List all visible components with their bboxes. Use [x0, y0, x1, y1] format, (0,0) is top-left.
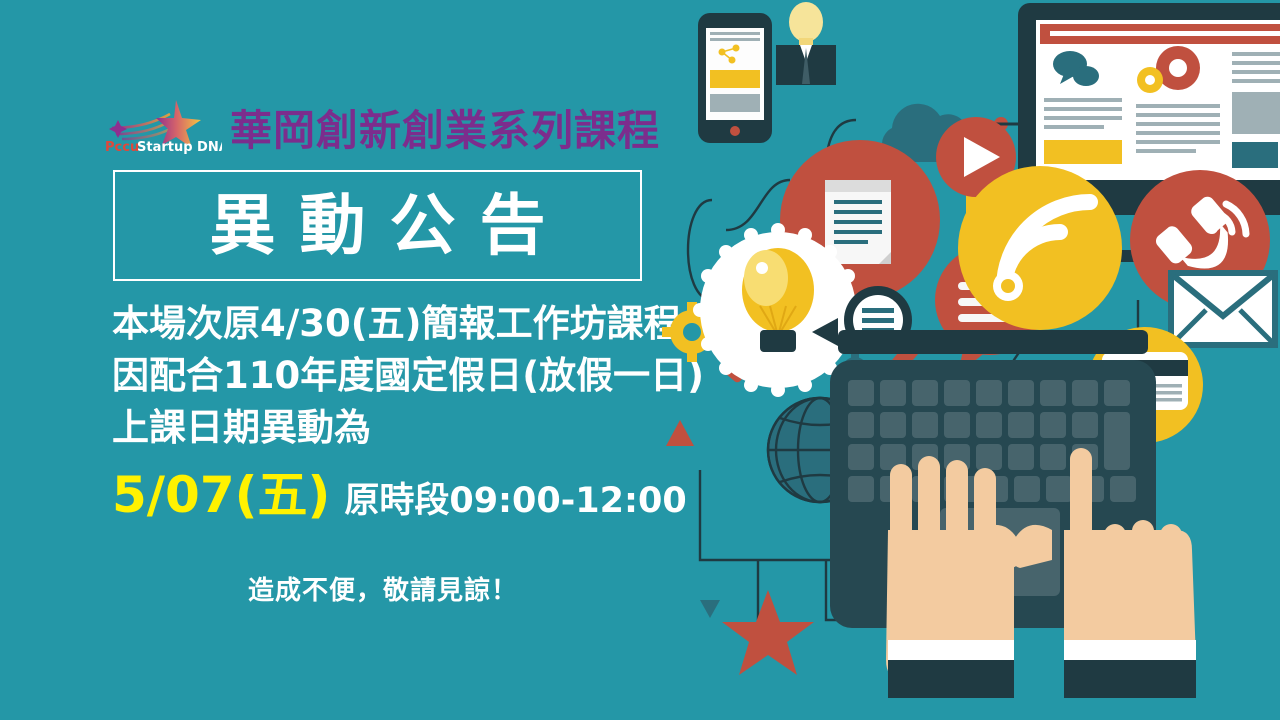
body-text: 本場次原4/30(五)簡報工作坊課程 因配合110年度國定假日(放假一日) 上課… — [112, 298, 704, 454]
organization-title: 華岡創新創業系列課程 — [230, 110, 660, 152]
headline-text: 異動公告 — [115, 193, 640, 259]
brand-row: Pccu Startup DNA 華岡創新創業系列課程 — [104, 98, 660, 154]
smartphone-icon — [698, 13, 772, 143]
arrow-marker-icon — [666, 420, 694, 446]
arrow-marker-icon — [700, 600, 720, 618]
body-line: 上課日期異動為 — [112, 402, 704, 454]
businessman-lightbulb-icon — [776, 2, 836, 85]
star-icon — [722, 590, 814, 675]
text-column: Pccu Startup DNA 華岡創新創業系列課程 異動公告 本場次原4/3… — [0, 0, 700, 720]
svg-text:Startup DNA: Startup DNA — [137, 140, 222, 154]
new-date-value: 5/07(五) — [112, 470, 330, 520]
shooting-star-icon: Pccu Startup DNA — [104, 98, 222, 154]
body-line: 本場次原4/30(五)簡報工作坊課程 — [112, 298, 704, 350]
flat-technology-collage — [640, 0, 1280, 720]
svg-text:Pccu: Pccu — [105, 140, 139, 154]
body-line: 因配合110年度國定假日(放假一日) — [112, 350, 704, 402]
announcement-poster: Pccu Startup DNA 華岡創新創業系列課程 異動公告 本場次原4/3… — [0, 0, 1280, 720]
new-date-row: 5/07(五) 原時段09:00-12:00 — [112, 470, 687, 520]
wifi-circle-icon — [958, 166, 1122, 330]
headline-box: 異動公告 — [113, 170, 642, 281]
apology-note: 造成不便，敬請見諒！ — [248, 570, 518, 607]
envelope-icon — [1168, 270, 1278, 348]
session-time-label: 原時段09:00-12:00 — [344, 484, 686, 519]
